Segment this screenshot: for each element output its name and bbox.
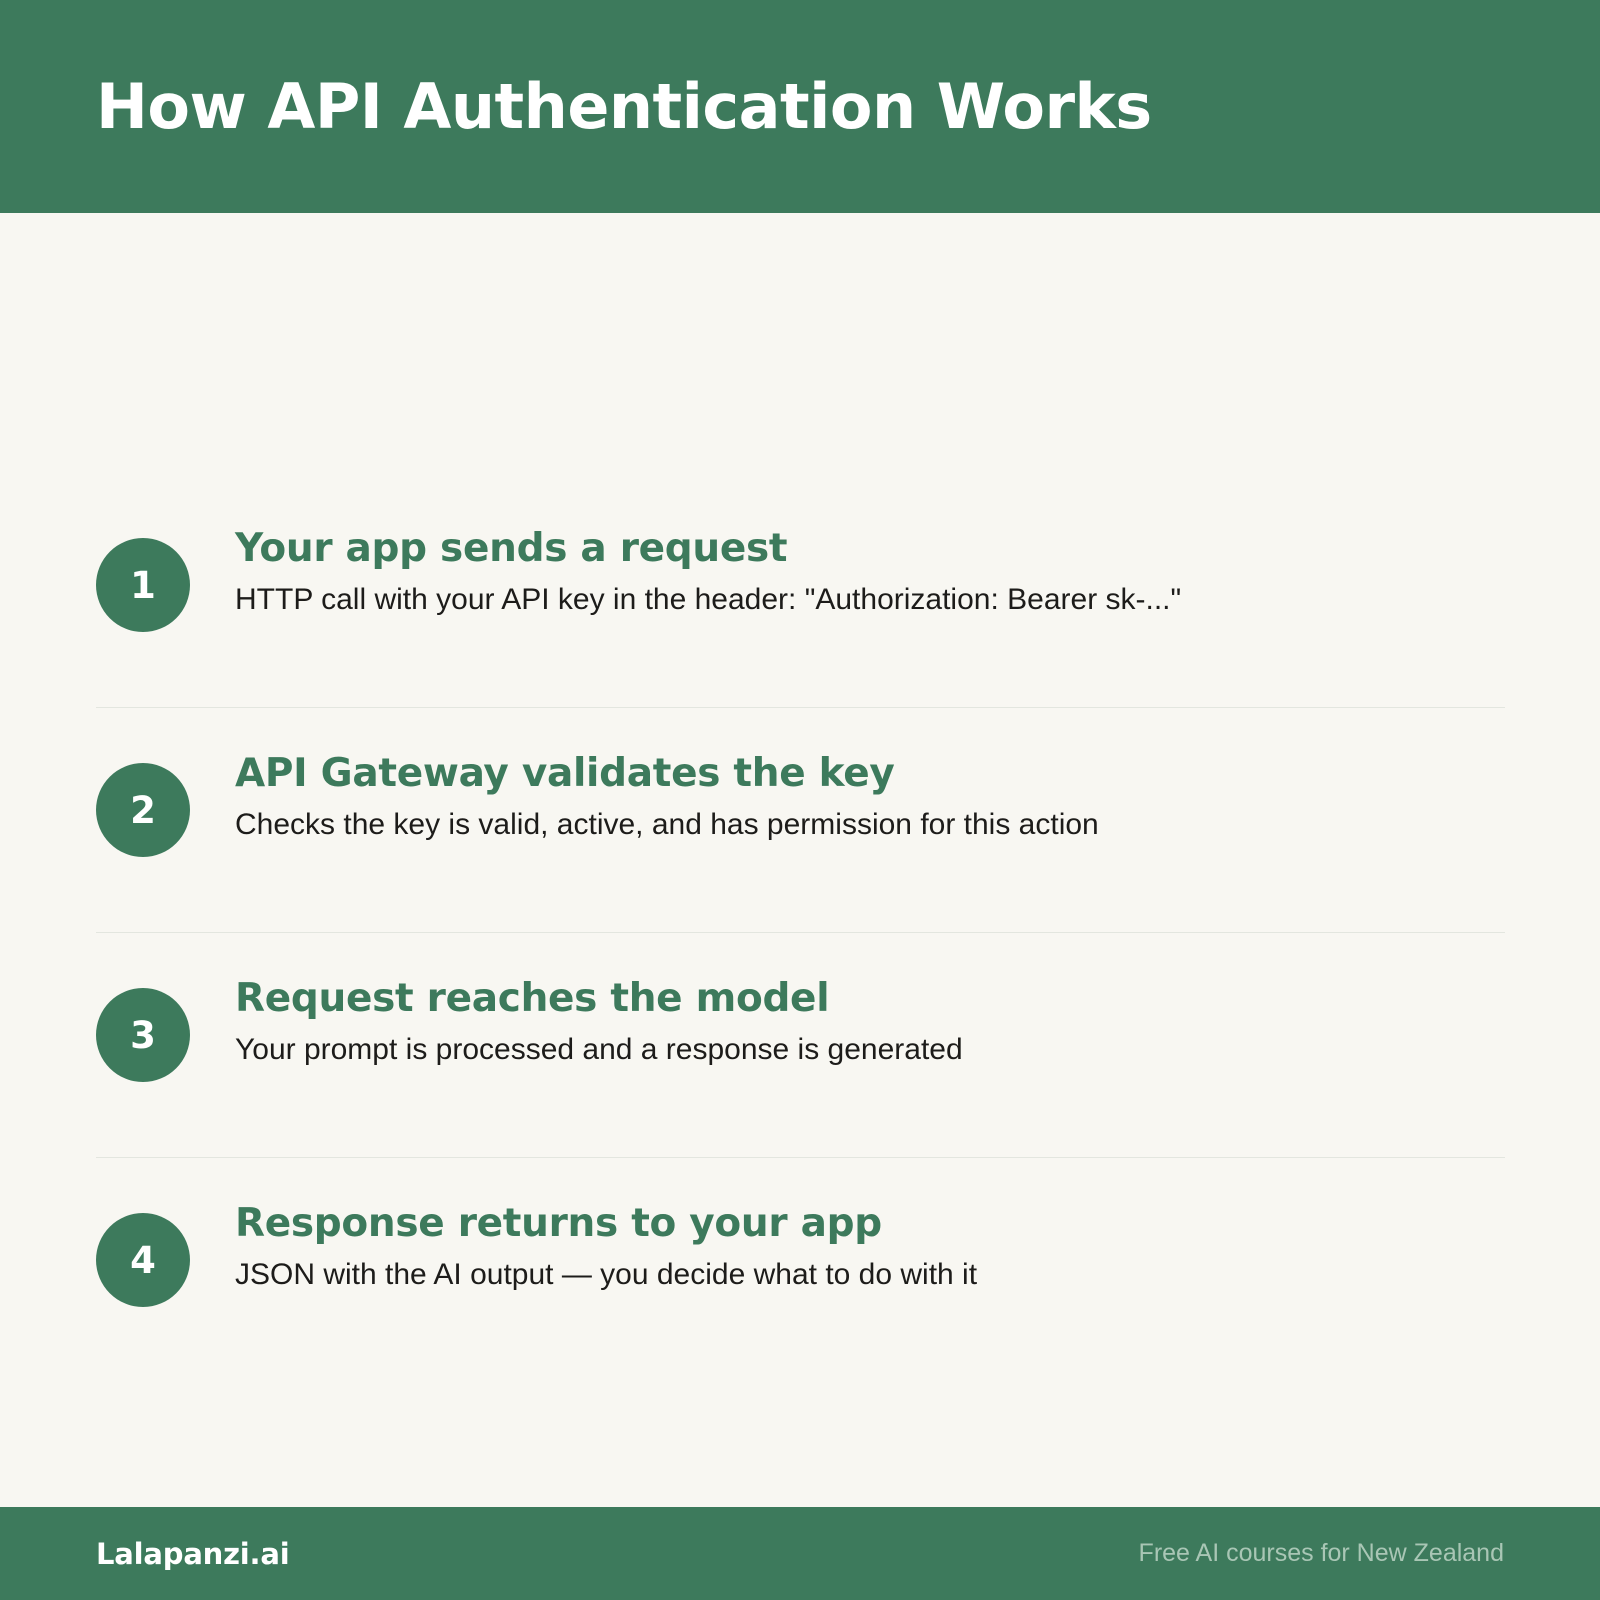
step-description-4: JSON with the AI output — you decide wha…: [235, 1255, 1505, 1296]
step-title-3: Request reaches the model: [235, 975, 1505, 1024]
step-gap-5: [96, 1115, 1505, 1157]
step-gap-2: [96, 708, 1505, 750]
header-bar: How API Authentication Works: [0, 0, 1600, 213]
steps-list: 1 Your app sends a request HTTP call wit…: [96, 525, 1505, 1340]
step-item-2: 2 API Gateway validates the key Checks t…: [96, 750, 1505, 890]
step-title-1: Your app sends a request: [235, 525, 1505, 574]
step-gap-4: [96, 933, 1505, 975]
step-number-badge-4: 4: [96, 1213, 190, 1307]
step-gap-3: [96, 890, 1505, 932]
step-gap-6: [96, 1158, 1505, 1200]
step-item-1: 1 Your app sends a request HTTP call wit…: [96, 525, 1505, 665]
step-description-3: Your prompt is processed and a response …: [235, 1030, 1505, 1071]
footer-tagline: Free AI courses for New Zealand: [1139, 1539, 1504, 1568]
infographic-page: How API Authentication Works 1 Your app …: [0, 0, 1600, 1600]
step-description-1: HTTP call with your API key in the heade…: [235, 580, 1505, 621]
step-item-3: 3 Request reaches the model Your prompt …: [96, 975, 1505, 1115]
step-title-4: Response returns to your app: [235, 1200, 1505, 1249]
step-text-block-3: Request reaches the model Your prompt is…: [190, 975, 1505, 1070]
step-number-badge-2: 2: [96, 763, 190, 857]
step-gap-1: [96, 665, 1505, 707]
step-text-block-2: API Gateway validates the key Checks the…: [190, 750, 1505, 845]
step-text-block-4: Response returns to your app JSON with t…: [190, 1200, 1505, 1295]
step-text-block-1: Your app sends a request HTTP call with …: [190, 525, 1505, 620]
step-title-2: API Gateway validates the key: [235, 750, 1505, 799]
main-content: 1 Your app sends a request HTTP call wit…: [0, 213, 1600, 1507]
page-title: How API Authentication Works: [0, 74, 1152, 139]
footer-logo: Lalapanzi.ai: [96, 1537, 289, 1571]
step-description-2: Checks the key is valid, active, and has…: [235, 805, 1505, 846]
footer-bar: Lalapanzi.ai Free AI courses for New Zea…: [0, 1507, 1600, 1600]
step-number-badge-3: 3: [96, 988, 190, 1082]
step-item-4: 4 Response returns to your app JSON with…: [96, 1200, 1505, 1340]
step-number-badge-1: 1: [96, 538, 190, 632]
